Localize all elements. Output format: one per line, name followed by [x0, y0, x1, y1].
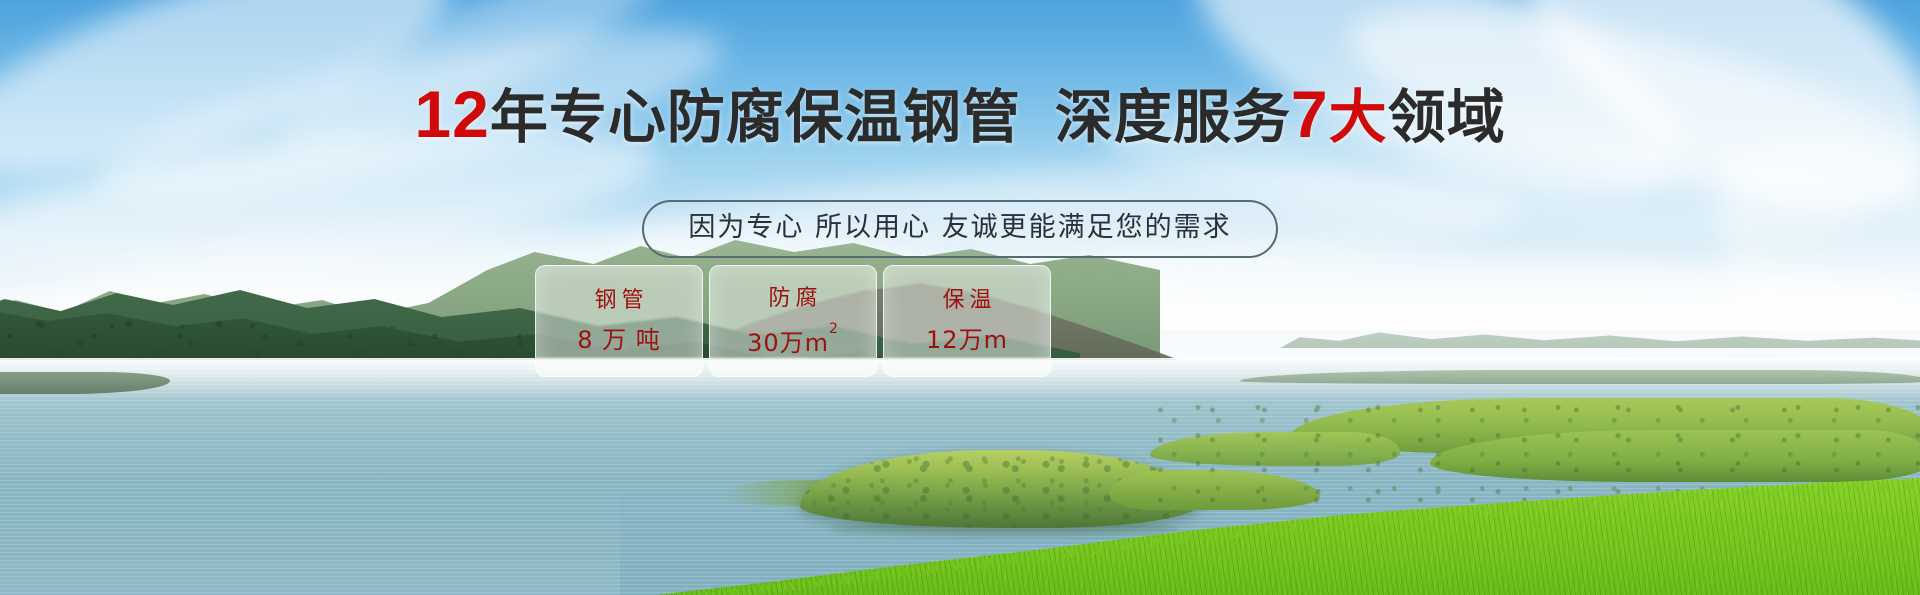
headline-years-number: 12: [414, 77, 489, 151]
headline: 12年专心防腐保温钢管深度服务7大领域: [0, 82, 1920, 149]
stat-card-value: 12万m: [926, 327, 1008, 353]
headline-fields-number: 7: [1291, 77, 1329, 151]
stat-card-anticorrosion: 防腐 30万m2: [709, 265, 877, 377]
subtitle-container: 因为专心 所以用心 友诚更能满足您的需求: [0, 200, 1920, 258]
headline-segment-2: 深度服务: [1055, 83, 1291, 151]
stat-card-value: 30万m2: [747, 325, 839, 356]
stat-card-steel-pipe: 钢管 8 万 吨: [535, 265, 703, 377]
stat-card-label: 防腐: [763, 287, 822, 311]
headline-segment-1: 年专心防腐保温钢管: [490, 83, 1021, 151]
stat-card-value-text: 30万m: [747, 329, 829, 357]
subtitle-pill: 因为专心 所以用心 友诚更能满足您的需求: [642, 200, 1277, 258]
stat-card-list: 钢管 8 万 吨 防腐 30万m2 保温 12万m: [535, 265, 1051, 377]
stat-card-label: 保温: [937, 289, 996, 313]
stat-card-value-superscript: 2: [829, 321, 839, 337]
headline-segment-4: 领域: [1388, 83, 1506, 151]
stat-card-insulation: 保温 12万m: [883, 265, 1051, 377]
headline-segment-3: 大: [1329, 83, 1388, 151]
stat-card-value-text: 8 万 吨: [577, 326, 661, 354]
promo-banner: 12年专心防腐保温钢管深度服务7大领域 因为专心 所以用心 友诚更能满足您的需求…: [0, 0, 1920, 595]
banner-content: 12年专心防腐保温钢管深度服务7大领域 因为专心 所以用心 友诚更能满足您的需求…: [0, 0, 1920, 595]
stat-card-label: 钢管: [589, 289, 648, 313]
stat-card-value: 8 万 吨: [577, 327, 661, 353]
stat-card-value-text: 12万m: [926, 326, 1008, 354]
